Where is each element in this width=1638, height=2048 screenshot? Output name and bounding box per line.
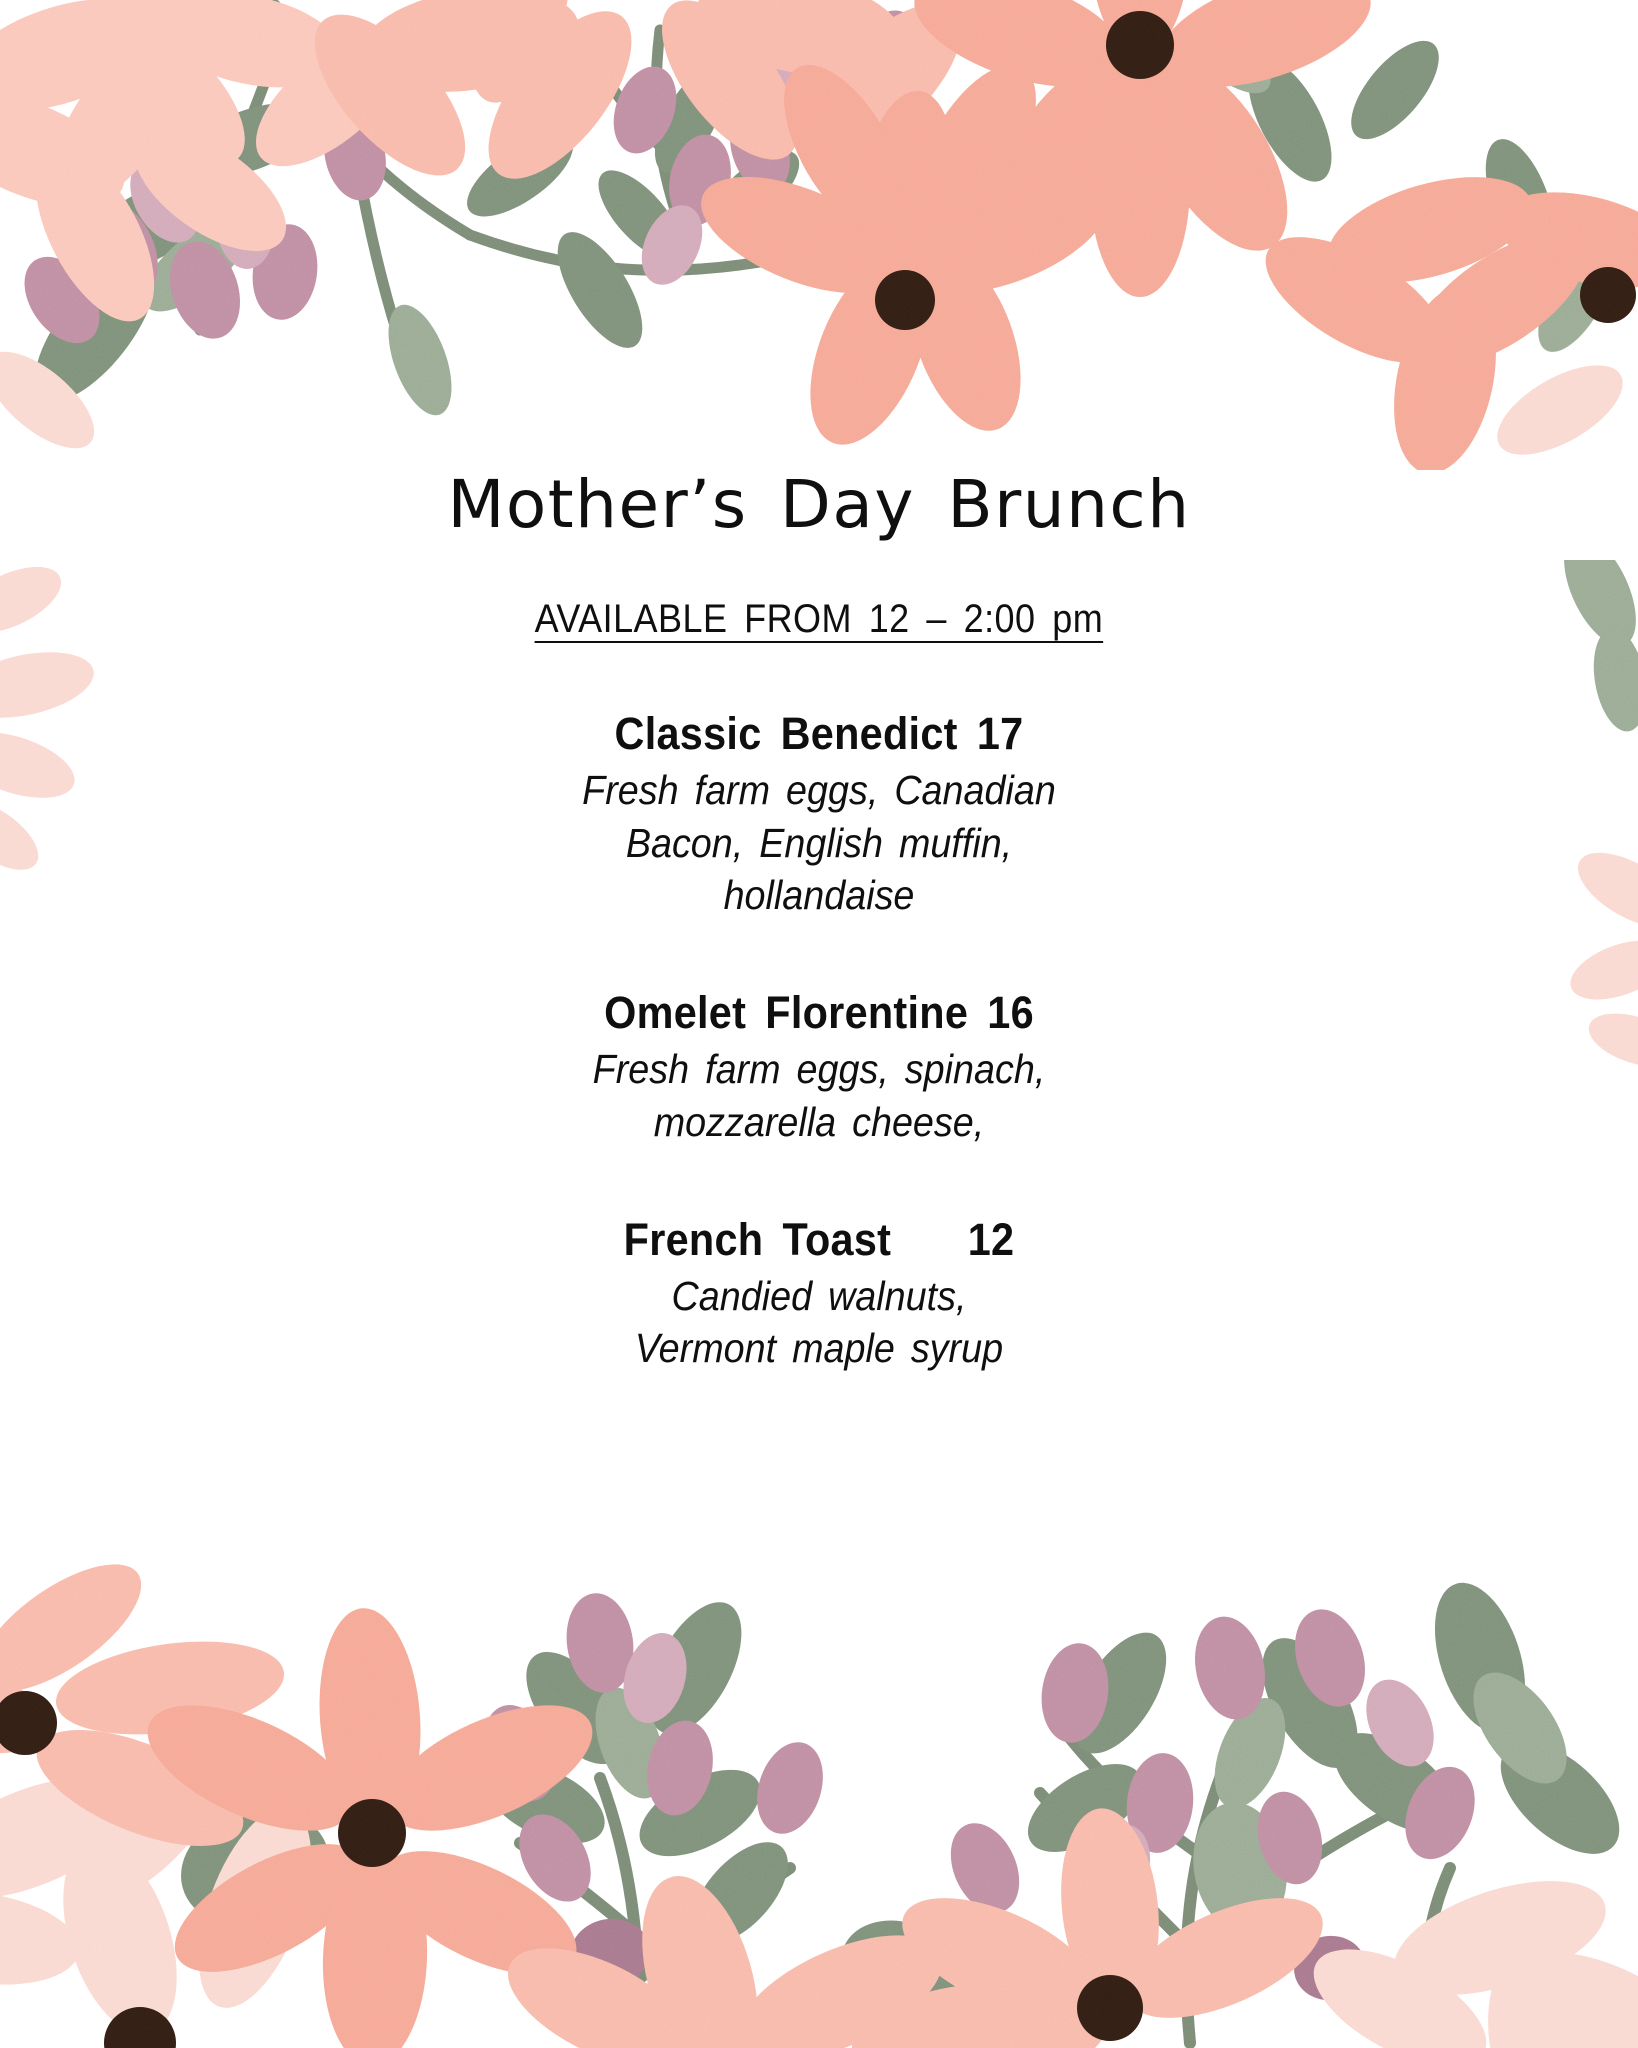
menu-item-name: French Toast 12 xyxy=(359,1214,1279,1266)
flower-top-far-right xyxy=(1246,157,1638,470)
menu-item-description: Fresh farm eggs, Canadian Bacon, English… xyxy=(359,764,1279,921)
description-line: Fresh farm eggs, Canadian xyxy=(359,764,1279,816)
menu-item-description: Candied walnuts, Vermont maple syrup xyxy=(359,1270,1279,1375)
floral-accent-left xyxy=(0,560,170,980)
flower-bottom-right xyxy=(885,1804,1339,2048)
flower-center xyxy=(338,1799,406,1867)
description-line: hollandaise xyxy=(359,869,1279,921)
flower-top-right-daisy xyxy=(685,46,1124,462)
availability-line-wrapper: AVAILABLE FROM 12 – 2:00 pm xyxy=(319,539,1319,642)
page-title: Mother’s Day Brunch xyxy=(319,470,1319,539)
description-line: mozzarella cheese, xyxy=(359,1096,1279,1148)
bottom-foliage-group xyxy=(0,1541,1638,2048)
top-foliage-group xyxy=(0,0,1638,470)
flower-top-left xyxy=(0,0,306,340)
description-line: Candied walnuts, xyxy=(359,1270,1279,1322)
flower-center xyxy=(104,2007,176,2048)
flower-bottom-left xyxy=(0,1709,334,2048)
floral-border-bottom xyxy=(0,1538,1638,2048)
flower-center xyxy=(1077,1975,1143,2041)
flower-bottom-left-upper xyxy=(0,1541,290,1870)
menu-flyer: Mother’s Day Brunch AVAILABLE FROM 12 – … xyxy=(0,0,1638,2048)
flower-bottom-center-left xyxy=(130,1605,610,2048)
menu-text-block: Mother’s Day Brunch AVAILABLE FROM 12 – … xyxy=(319,470,1319,1375)
flower-center xyxy=(1580,267,1636,323)
flower-center xyxy=(1106,11,1174,79)
menu-item-3: French Toast 12 Candied walnuts, Vermont… xyxy=(319,1214,1319,1375)
menu-item-description: Fresh farm eggs, spinach, mozzarella che… xyxy=(359,1043,1279,1148)
flower-top-center xyxy=(637,0,986,182)
flower-top-right xyxy=(901,0,1385,297)
menu-item-name: Omelet Florentine 16 xyxy=(359,987,1279,1039)
menu-item-2: Omelet Florentine 16 Fresh farm eggs, sp… xyxy=(319,987,1319,1148)
flower-bottom-center xyxy=(490,1863,1057,2048)
flower-bottom-far-right xyxy=(1296,1858,1638,2048)
menu-item-1: Classic Benedict 17 Fresh farm eggs, Can… xyxy=(319,708,1319,921)
availability-text: AVAILABLE FROM 12 – 2:00 pm xyxy=(535,597,1104,642)
description-line: Fresh farm eggs, spinach, xyxy=(359,1043,1279,1095)
menu-item-name: Classic Benedict 17 xyxy=(359,708,1279,760)
description-line: Bacon, English muffin, xyxy=(359,817,1279,869)
flower-top-left-2 xyxy=(93,0,426,190)
floral-accent-right xyxy=(1470,560,1638,1120)
flower-center xyxy=(0,1691,57,1755)
floral-border-top xyxy=(0,0,1638,470)
flower-center xyxy=(875,270,935,330)
flower-top-center-left xyxy=(289,0,658,202)
description-line: Vermont maple syrup xyxy=(359,1322,1279,1374)
